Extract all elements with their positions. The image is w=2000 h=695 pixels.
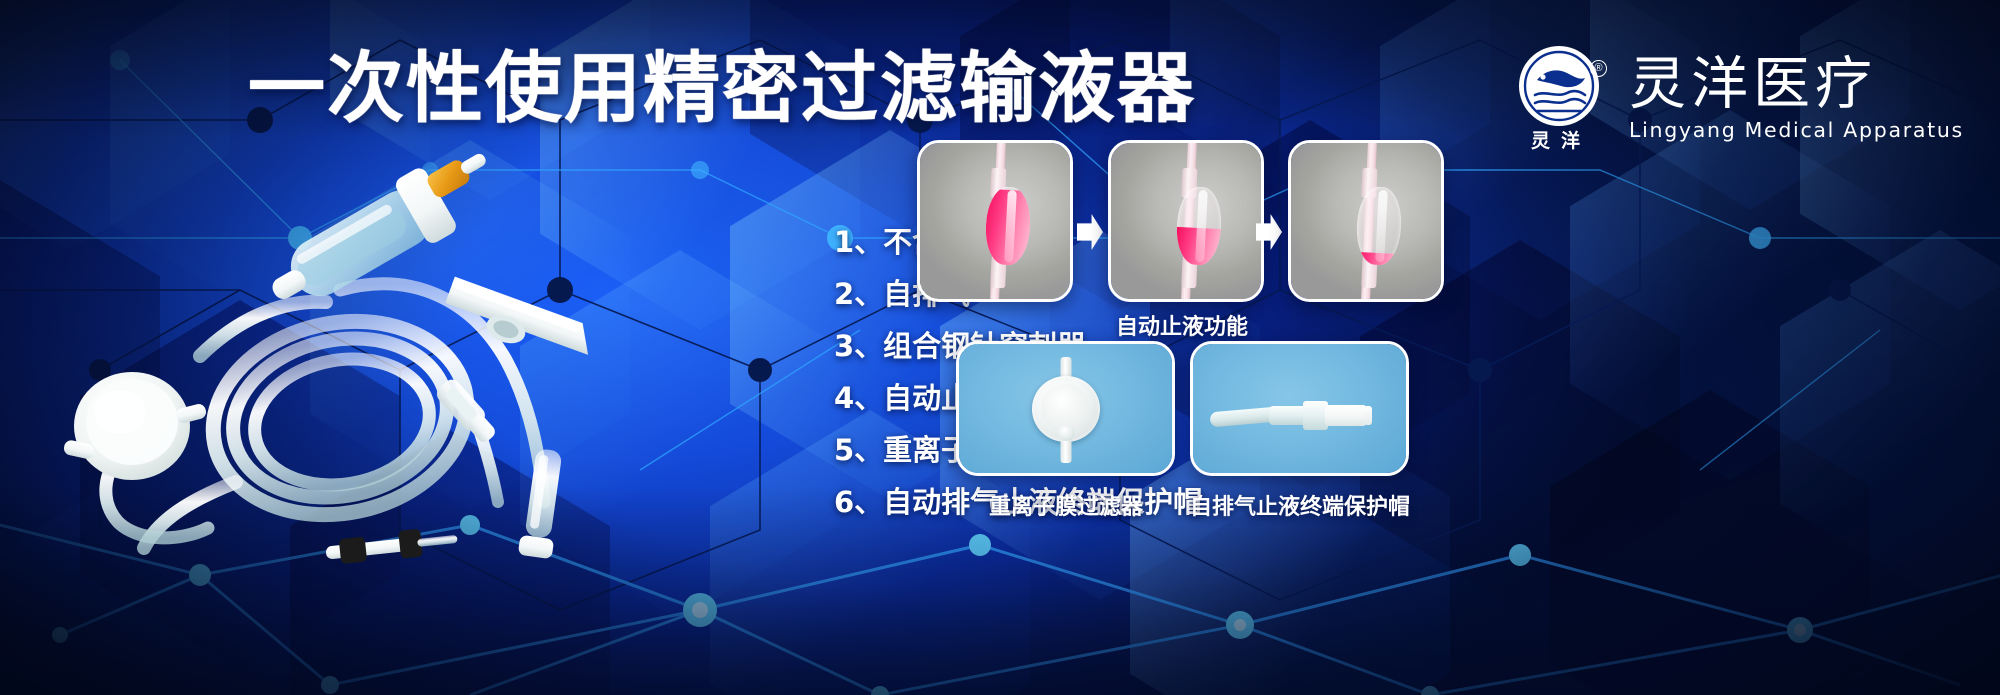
- page-title: 一次性使用精密过滤输液器: [248, 47, 1196, 133]
- company-name-cn: 灵洋医疗: [1629, 54, 1964, 114]
- banner-root: 一次性使用精密过滤输液器 ® 灵洋 灵洋医疗 Lingyang Medical …: [0, 0, 2000, 695]
- company-logo: ® 灵洋 灵洋医疗 Lingyang Medical Apparatus: [1513, 46, 1964, 150]
- emblem-sub-text: 灵洋: [1513, 126, 1609, 153]
- drip-chamber-half-photo: [1108, 140, 1264, 302]
- registered-mark: ®: [1590, 60, 1607, 77]
- drip-chamber-full-photo: [917, 140, 1073, 302]
- company-name-en: Lingyang Medical Apparatus: [1629, 118, 1964, 142]
- sequence-caption: 自动止液功能: [917, 309, 1447, 341]
- wave-circle-emblem-icon: ® 灵洋: [1513, 46, 1609, 150]
- infusion-set-product-photo: [40, 150, 740, 570]
- protective-cap-photo-caption: 自排气止液终端保护帽: [1150, 489, 1450, 521]
- heavy-ion-membrane-filter-photo: [956, 341, 1175, 476]
- drip-chamber-nearly-empty-photo: [1288, 140, 1444, 302]
- terminal-protective-cap-photo: [1190, 341, 1409, 476]
